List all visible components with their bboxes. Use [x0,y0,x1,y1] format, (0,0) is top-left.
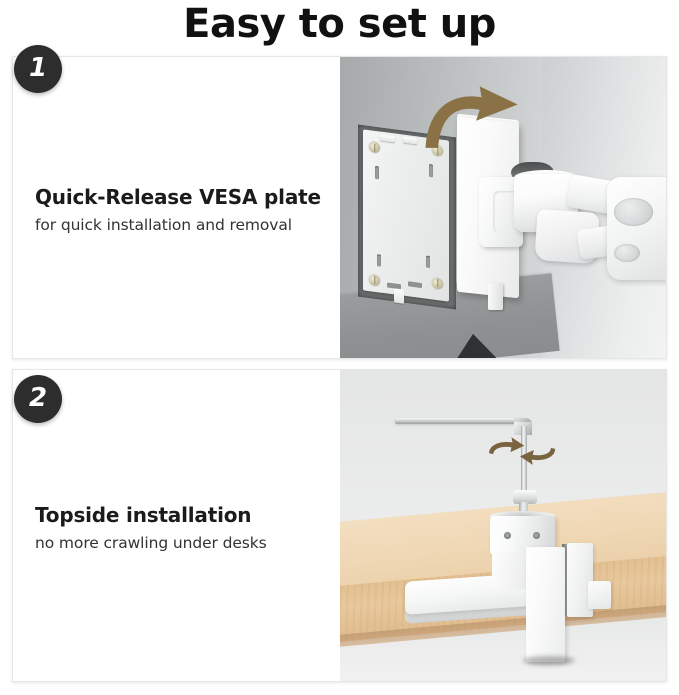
clamp-side-tab [588,581,611,609]
hex-key-icon [395,418,525,424]
step-1-text-pane: Quick-Release VESA plate for quick insta… [13,57,340,358]
clamp-vertical-jaw [526,547,565,662]
vesa-screw-top-left [370,142,381,154]
step-card-2: Topside installation no more crawling un… [12,369,667,682]
step-2-badge: 2 [14,375,62,423]
vesa-screw-bottom-left [370,274,381,286]
step-1-badge: 1 [14,45,62,93]
vesa-screw-bottom-right [433,277,444,289]
step-card-1: Quick-Release VESA plate for quick insta… [12,56,667,359]
step-2-text-pane: Topside installation no more crawling un… [13,370,340,681]
vesa-slot-1 [376,167,380,181]
step-2-title: Topside installation [35,503,326,527]
step-2-photo [340,370,666,681]
arm-disc-small [614,244,640,262]
clamp-hole-2 [533,532,540,539]
arm-end-housing [607,177,666,279]
clamp-hole-1 [504,532,511,539]
vesa-lug-top-left [381,135,396,143]
quick-release-lever [488,283,503,310]
rotation-arrows-icon [483,434,561,471]
step-1-title: Quick-Release VESA plate [35,185,326,209]
page-title: Easy to set up [0,0,679,46]
step-2-subtitle: no more crawling under desks [35,534,326,552]
step-1-photo [340,57,666,358]
vesa-slot-4 [427,256,431,269]
vesa-lug-bottom [395,289,405,304]
easy-to-set-up-infographic: Easy to set up Quick-Release VESA plate … [0,0,679,695]
vesa-slot-2 [429,164,433,178]
curved-arrow-icon [412,81,529,153]
vesa-plate-icon [363,130,449,302]
arm-disc-large [614,198,653,225]
vesa-tab-2 [408,282,422,289]
step-1-subtitle: for quick installation and removal [35,216,326,234]
vesa-slot-3 [377,255,381,268]
